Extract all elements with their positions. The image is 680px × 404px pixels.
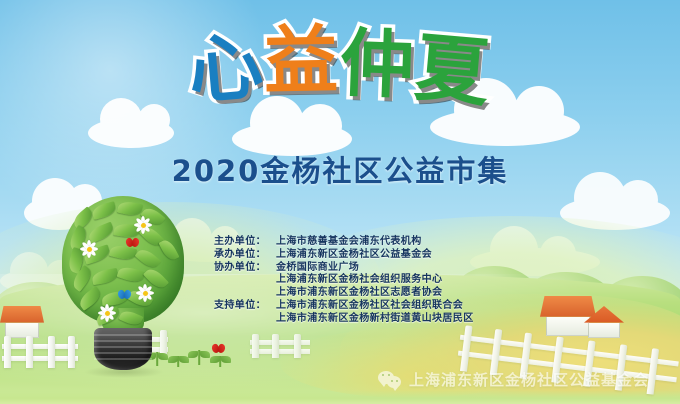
watermark: 上海浦东新区金杨社区公益基金会: [378, 369, 649, 390]
butterfly-wing: [216, 343, 226, 354]
daisy-center: [143, 291, 148, 296]
credit-label: [214, 313, 276, 326]
butterfly-red: [126, 238, 140, 249]
sprout-leaf: [221, 356, 231, 363]
main-title-wrapper: 心益仲夏: [0, 26, 680, 100]
wechat-dot: [388, 374, 390, 376]
daisy-flower: [98, 304, 116, 322]
fence-post: [294, 334, 301, 358]
credit-label: [214, 274, 276, 287]
house-body: [588, 323, 619, 338]
fence-post: [252, 334, 259, 358]
credit-row: 承办单位： 上海浦东新区金杨社区公益基金会: [214, 249, 474, 262]
daisy-flower: [136, 284, 154, 302]
daisy-center: [141, 223, 146, 228]
credit-value: 上海市浦东新区金杨新村街道黄山块居民区: [276, 313, 474, 326]
plant-sprout: [192, 350, 206, 365]
wechat-dot: [391, 380, 393, 382]
fence-rail: [250, 340, 310, 345]
leaf-lightbulb-graphic: [62, 196, 184, 366]
credit-value: 上海浦东新区金杨社会组织服务中心: [276, 274, 442, 287]
sprout-leaf: [188, 351, 198, 358]
credit-value: 上海市浦东新区金杨社区社会组织联合会: [276, 300, 463, 313]
bulb-base-thread: [94, 340, 152, 342]
subtitle: 2020金杨社区公益市集: [0, 148, 680, 190]
daisy-center: [87, 247, 92, 252]
credit-row: 上海市浦东新区金杨新村街道黄山块居民区: [214, 313, 474, 326]
wechat-dot: [396, 380, 398, 382]
credit-row: 上海市浦东新区金杨社区志愿者协会: [214, 287, 474, 300]
credit-label: 主办单位：: [214, 236, 276, 249]
watermark-text: 上海浦东新区金杨社区公益基金会: [409, 369, 649, 390]
daisy-flower: [80, 240, 98, 258]
cloud: [88, 118, 174, 148]
credit-row: 支持单位： 上海市浦东新区金杨社区社会组织联合会: [214, 300, 474, 313]
credits-block: 主办单位： 上海市慈善基金会浦东代表机构 承办单位： 上海浦东新区金杨社区公益基…: [214, 236, 474, 326]
fence-post: [26, 336, 33, 368]
credit-value: 上海市浦东新区金杨社区志愿者协会: [276, 287, 442, 300]
plant-sprout: [214, 356, 226, 367]
bulb-base-thread: [94, 352, 152, 354]
sprout-leaf: [210, 356, 220, 363]
title-char-1: 心: [185, 29, 267, 109]
bulb-base-thread: [94, 346, 152, 348]
fence-rail: [250, 349, 310, 354]
credit-label: 承办单位：: [214, 249, 276, 262]
credit-row: 上海浦东新区金杨社会组织服务中心: [214, 274, 474, 287]
daisy-center: [105, 311, 110, 316]
picket-fence: [250, 334, 310, 358]
house-roof: [584, 306, 624, 323]
fence-post: [4, 336, 11, 368]
credit-row: 主办单位： 上海市慈善基金会浦东代表机构: [214, 236, 474, 249]
credit-label: 协办单位：: [214, 262, 276, 275]
daisy-flower: [134, 216, 152, 234]
credit-value: 上海市慈善基金会浦东代表机构: [276, 236, 422, 249]
credit-label: 支持单位：: [214, 300, 276, 313]
house: [584, 306, 624, 338]
bulb-base-thread: [94, 358, 152, 360]
title-char-4: 夏: [412, 31, 494, 111]
wechat-bubble-small: [387, 376, 401, 388]
fence-post: [48, 336, 55, 368]
credit-row: 协办单位： 金桥国际商业广场: [214, 262, 474, 275]
poster-canvas: 心益仲夏 2020金杨社区公益市集 主办单位： 上海市慈善基金会浦东代表机构 承…: [0, 0, 680, 404]
fence-post: [460, 325, 473, 372]
credit-value: 上海浦东新区金杨社区公益基金会: [276, 249, 432, 262]
house: [0, 306, 44, 338]
fence-post: [272, 334, 279, 358]
sprout-leaf: [200, 351, 210, 358]
credit-value: 金桥国际商业广场: [276, 262, 359, 275]
bulb-screw-base: [94, 328, 152, 370]
ground-foreground-strip: [0, 390, 680, 404]
credit-label: [214, 287, 276, 300]
wechat-dot: [382, 374, 384, 376]
title-char-2: 益: [263, 23, 340, 98]
bulb-base-thread: [94, 334, 152, 336]
butterfly-blue: [118, 290, 132, 301]
house-roof: [0, 306, 44, 323]
title-char-3: 仲: [339, 27, 418, 104]
main-title: 心益仲夏: [188, 26, 492, 100]
wechat-icon: [378, 370, 402, 390]
butterfly-red: [212, 344, 226, 355]
